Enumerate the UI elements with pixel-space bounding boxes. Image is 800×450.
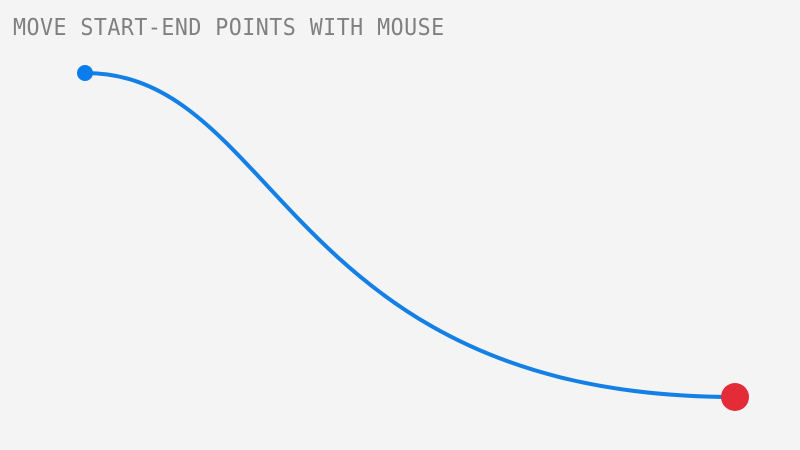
end-point-handle[interactable] — [721, 383, 749, 411]
start-point-handle[interactable] — [77, 65, 93, 81]
page-title: MOVE START-END POINTS WITH MOUSE — [13, 15, 445, 41]
bezier-curve-path — [85, 73, 735, 397]
bezier-curve-canvas — [0, 0, 800, 450]
bezier-canvas-stage: MOVE START-END POINTS WITH MOUSE — [0, 0, 800, 450]
